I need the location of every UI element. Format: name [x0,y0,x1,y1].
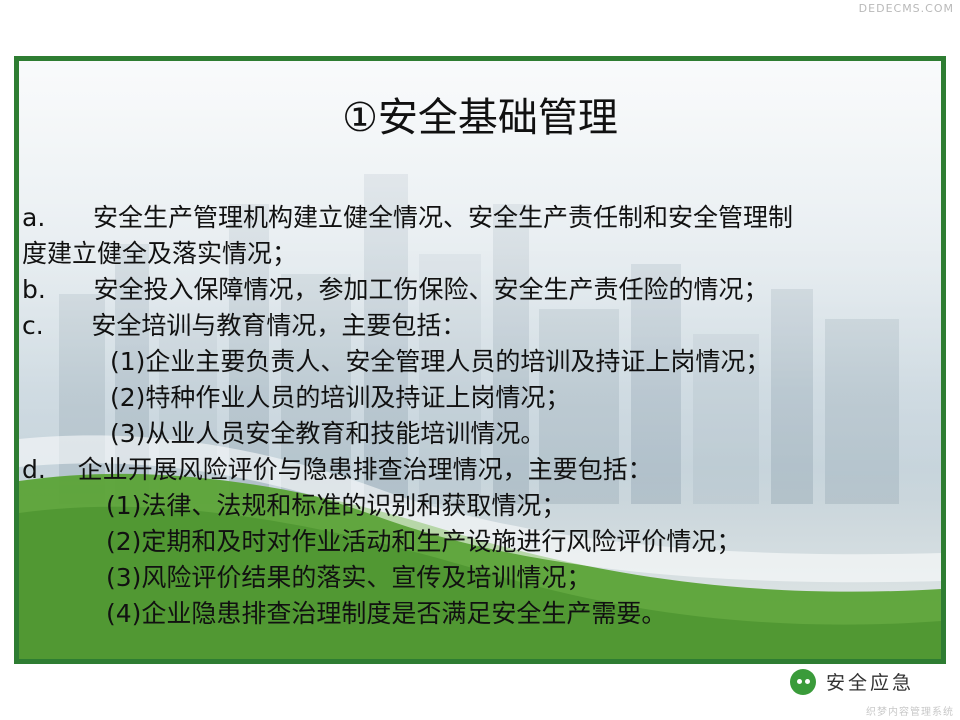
frame-border-top [14,56,946,61]
frame-border-right [941,56,946,664]
body-line: (2)定期和及时对作业活动和生产设施进行风险评价情况； [22,524,922,560]
body-line: c. 安全培训与教育情况，主要包括： [22,308,922,344]
wechat-icon [790,669,816,695]
slide-title: ①安全基础管理 [0,96,960,140]
slide-body: a. 安全生产管理机构建立健全情况、安全生产责任制和安全管理制 度建立健全及落实… [22,200,922,632]
watermark-bottom: 织梦内容管理系统 [866,703,954,718]
body-line: b. 安全投入保障情况，参加工伤保险、安全生产责任险的情况； [22,272,922,308]
watermark-top: DEDECMS.COM [859,2,954,15]
footer-brand: 安全应急 [790,668,914,695]
body-line: d. 企业开展风险评价与隐患排查治理情况，主要包括： [22,452,922,488]
body-line: (3)风险评价结果的落实、宣传及培训情况； [22,560,922,596]
presentation-slide: ①安全基础管理 a. 安全生产管理机构建立健全情况、安全生产责任制和安全管理制 … [0,0,960,720]
frame-border-left [14,56,19,664]
body-line: (3)从业人员安全教育和技能培训情况。 [22,416,922,452]
body-line: (2)特种作业人员的培训及持证上岗情况； [22,380,922,416]
body-line: (4)企业隐患排查治理制度是否满足安全生产需要。 [22,596,922,632]
frame-border-bottom [14,659,946,664]
body-line: 度建立健全及落实情况； [22,236,922,272]
body-line: a. 安全生产管理机构建立健全情况、安全生产责任制和安全管理制 [22,200,922,236]
body-line: (1)企业主要负责人、安全管理人员的培训及持证上岗情况； [22,344,922,380]
body-line: (1)法律、法规和标准的识别和获取情况； [22,488,922,524]
footer-brand-label: 安全应急 [826,668,914,695]
